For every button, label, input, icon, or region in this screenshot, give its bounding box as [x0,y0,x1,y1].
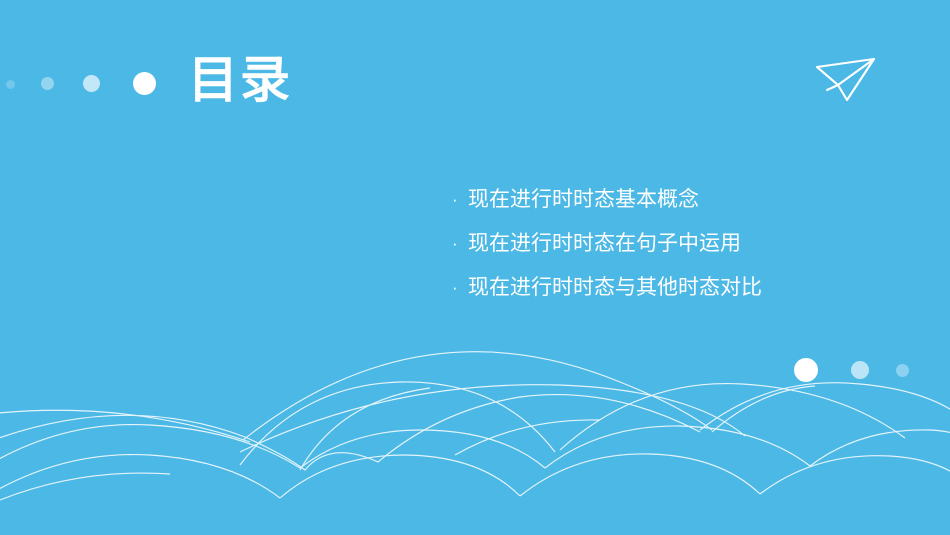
decorative-dot-6 [851,361,869,379]
decorative-dot-3 [83,75,100,92]
decorative-dot-4 [133,72,156,95]
slide-canvas: 目录 · 现在进行时时态基本概念 · 现在进行时时态在句子中运用 · 现在进行时… [0,0,950,535]
bullet-icon: · [452,222,468,266]
agenda-item[interactable]: · 现在进行时时态与其他时态对比 [452,266,762,310]
paper-plane-icon [814,54,878,106]
agenda-list: · 现在进行时时态基本概念 · 现在进行时时态在句子中运用 · 现在进行时时态与… [452,178,762,310]
agenda-item[interactable]: · 现在进行时时态在句子中运用 [452,222,762,266]
bullet-icon: · [452,178,468,222]
decorative-dot-1 [6,80,15,89]
agenda-item-label: 现在进行时时态基本概念 [468,178,699,222]
bullet-icon: · [452,266,468,310]
agenda-item-label: 现在进行时时态与其他时态对比 [468,266,762,310]
agenda-item-label: 现在进行时时态在句子中运用 [468,222,741,266]
page-title: 目录 [188,50,292,110]
decorative-dot-2 [41,77,54,90]
decorative-dot-5 [794,358,818,382]
agenda-item[interactable]: · 现在进行时时态基本概念 [452,178,762,222]
decorative-dot-7 [896,364,909,377]
